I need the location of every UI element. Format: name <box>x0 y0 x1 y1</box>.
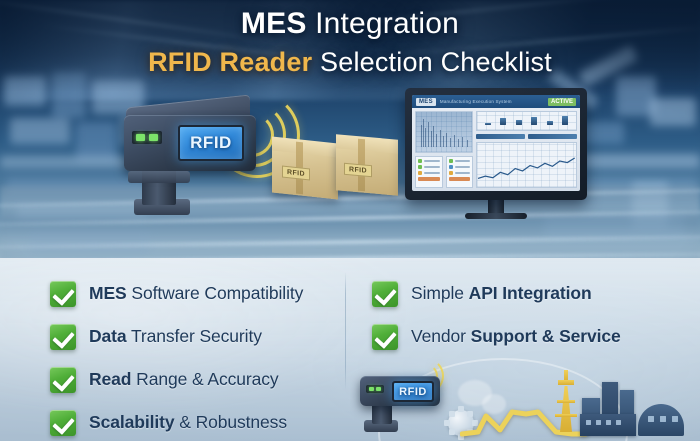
reader-screen: RFID <box>178 125 244 161</box>
checklist-item-label: MES Software Compatibility <box>89 283 303 304</box>
status-alert-bar <box>449 177 471 181</box>
rfid-label-text: RFID <box>287 169 305 178</box>
checklist-item[interactable]: MES Software Compatibility <box>50 272 340 315</box>
dashboard-left-column <box>415 111 473 188</box>
checklist-item-label: Scalability & Robustness <box>89 412 287 433</box>
title-rest: Integration <box>307 7 460 40</box>
checkbox-checked-icon[interactable] <box>372 324 398 350</box>
column-divider <box>345 272 346 390</box>
status-alert-bar <box>418 177 440 181</box>
reader-screen-label: RFID <box>399 386 427 398</box>
legend-item <box>528 134 577 139</box>
status-row <box>449 165 471 169</box>
checklist-column-left: MES Software Compatibility Data Transfer… <box>50 272 340 441</box>
reader-led-panel <box>366 385 384 393</box>
chart-legend <box>476 134 577 139</box>
infographic-poster: RFID RFID RFID MES Manufacturing Executi… <box>0 0 700 441</box>
dashboard-header: MES Manufacturing Execution System ACTIV… <box>412 95 580 108</box>
trend-line-svg <box>477 143 576 187</box>
rfid-label: RFID <box>344 163 372 177</box>
status-led <box>376 387 381 391</box>
chart-bar <box>485 123 491 124</box>
title-subrest: Selection Checklist <box>312 47 552 77</box>
checkbox-checked-icon[interactable] <box>50 367 76 393</box>
legend-item <box>476 134 525 139</box>
checklist-item[interactable]: Scalability & Robustness <box>50 401 340 441</box>
checkbox-checked-icon[interactable] <box>372 281 398 307</box>
title-accent: RFID Reader <box>148 47 312 77</box>
status-row <box>449 159 471 163</box>
chart-bar <box>531 117 537 125</box>
dashboard-subtitle: Manufacturing Execution System <box>440 99 544 104</box>
monitor-bezel: MES Manufacturing Execution System ACTIV… <box>405 88 587 200</box>
process-waveform-panel <box>415 111 473 153</box>
monitor-foot <box>465 213 527 219</box>
reader-screen: RFID <box>392 381 434 402</box>
mes-monitor: MES Manufacturing Execution System ACTIV… <box>405 88 587 224</box>
status-row <box>418 165 440 169</box>
title-line-1: MES Integration <box>0 6 700 42</box>
reader-led-panel <box>132 131 162 144</box>
status-led <box>149 134 158 141</box>
dashboard-status-badge: ACTIVE <box>548 98 576 106</box>
chart-bar <box>516 120 522 125</box>
checklist-item-label: Read Range & Accuracy <box>89 369 279 390</box>
status-list-right <box>446 156 474 188</box>
checkbox-checked-icon[interactable] <box>50 410 76 436</box>
chart-bar <box>547 121 553 125</box>
trend-line-chart <box>476 142 577 188</box>
status-led <box>136 134 145 141</box>
production-bar-chart <box>476 111 577 131</box>
chart-bar <box>562 116 568 125</box>
checklist-item[interactable]: Simple API Integration <box>372 272 672 315</box>
status-led <box>369 387 374 391</box>
title-strong: MES <box>241 7 307 40</box>
reader-mount <box>128 171 190 183</box>
monitor-screen: MES Manufacturing Execution System ACTIV… <box>412 95 580 191</box>
dashboard-logo: MES <box>416 98 436 106</box>
chart-bar <box>500 118 506 124</box>
dashboard-body <box>412 108 580 191</box>
checklist-item[interactable]: Read Range & Accuracy <box>50 358 340 401</box>
dashboard-right-column <box>476 111 577 188</box>
checklist-item-label: Simple API Integration <box>411 283 592 304</box>
rfid-reader-device: RFID <box>118 95 283 220</box>
status-row <box>418 159 440 163</box>
checklist-item-label: Data Transfer Security <box>89 326 262 347</box>
status-list-left <box>415 156 443 188</box>
reader-screen-label: RFID <box>190 133 232 153</box>
checkbox-checked-icon[interactable] <box>50 281 76 307</box>
monitor-neck <box>488 200 504 214</box>
status-row <box>418 171 440 175</box>
process-flow-illustration: RFID <box>350 352 700 441</box>
status-lists <box>415 156 473 188</box>
checkbox-checked-icon[interactable] <box>50 324 76 350</box>
checklist-column-right: Simple API Integration Vendor Support & … <box>372 272 672 358</box>
checklist-item[interactable]: Data Transfer Security <box>50 315 340 358</box>
poster-title: MES Integration RFID Reader Selection Ch… <box>0 6 700 79</box>
title-line-2: RFID Reader Selection Checklist <box>0 45 700 79</box>
status-row <box>449 171 471 175</box>
rfid-label-text: RFID <box>349 166 367 175</box>
checklist-item-label: Vendor Support & Service <box>411 326 621 347</box>
